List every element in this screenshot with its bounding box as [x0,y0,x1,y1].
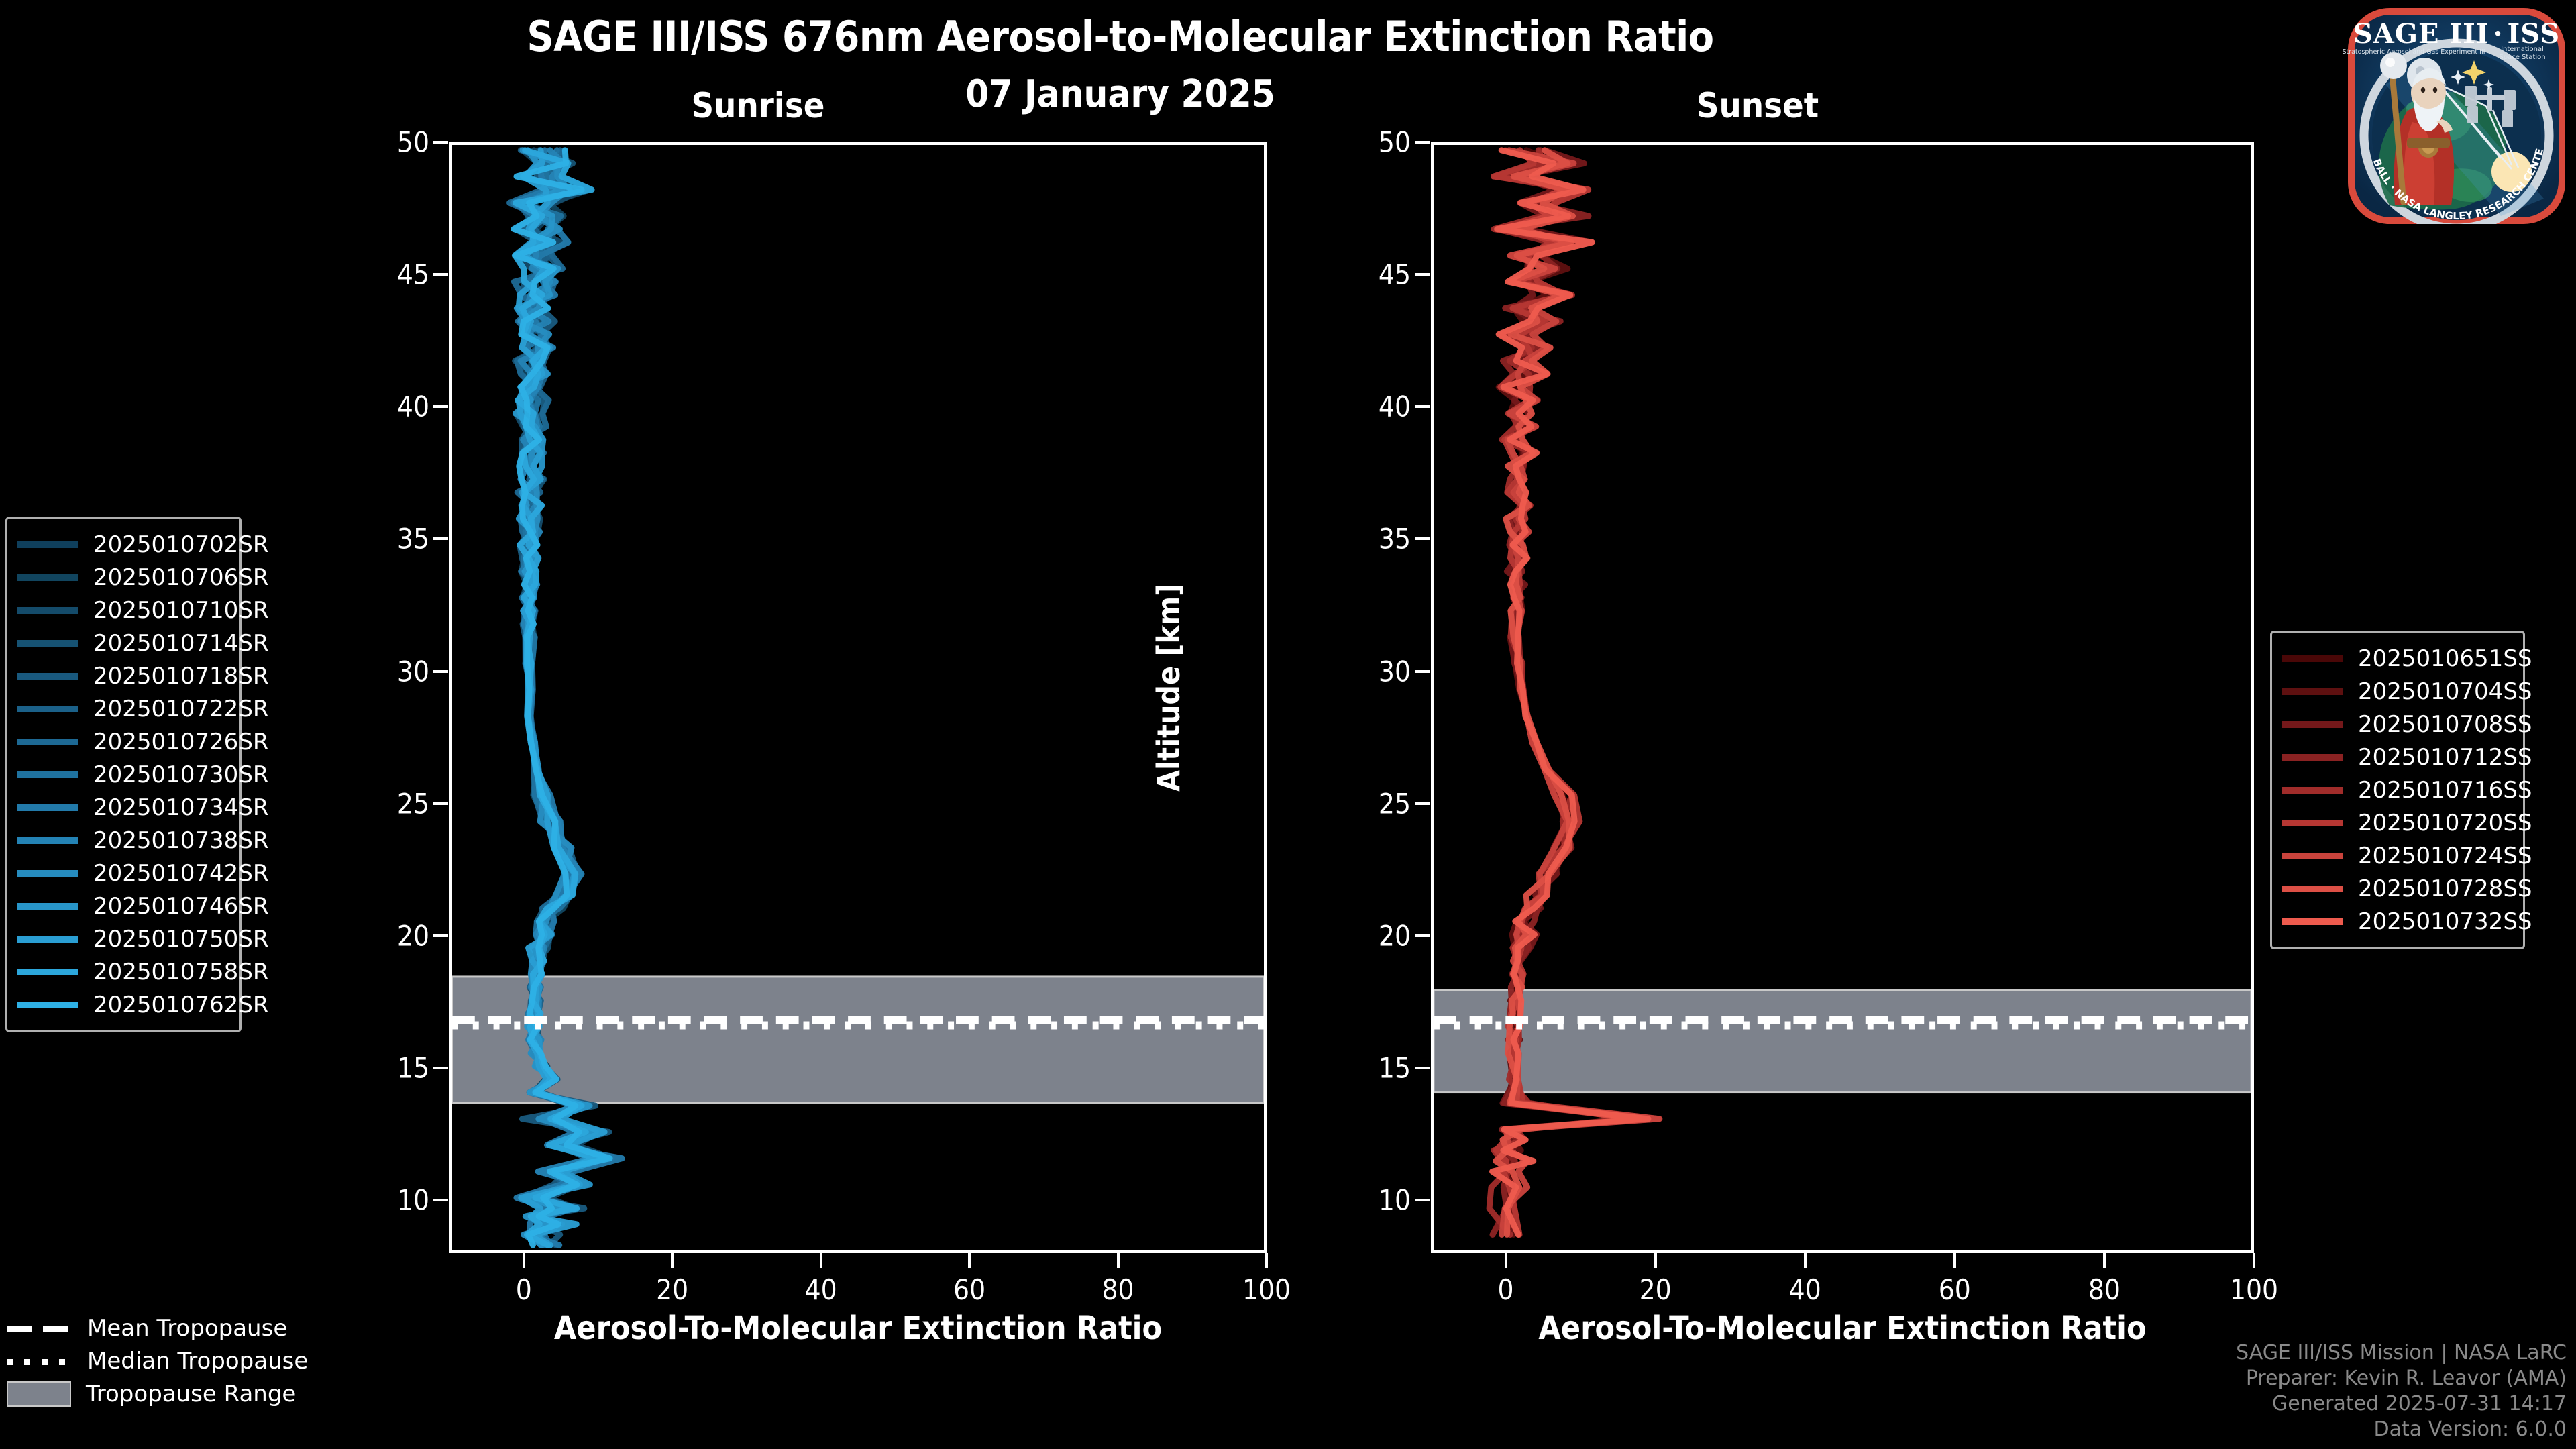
x-tick-mark [1265,1253,1268,1268]
x-tick-mark [1654,1253,1657,1268]
sunrise-x-axis-label: Aerosol-To-Molecular Extinction Ratio [449,1309,1267,1347]
tropopause-legend-item: Tropopause Range [7,1377,295,1410]
legend-color-swatch [17,870,78,877]
legend-color-swatch [2282,820,2343,826]
x-tick-label: 40 [1758,1273,1852,1306]
date-subtitle: 07 January 2025 [0,72,2241,116]
x-tick-label: 100 [2207,1273,2301,1306]
legend-item[interactable]: 2025010758SR [17,955,227,988]
tropopause-range-band [1434,990,2251,1093]
y-tick-mark [1415,537,1430,540]
tropopause-legend-item: Median Tropopause [7,1344,295,1377]
legend-item-label: 2025010724SS [2358,843,2532,869]
y-tick-label: 40 [349,390,429,423]
legend-item[interactable]: 2025010651SS [2282,642,2511,675]
x-tick-mark [2253,1253,2255,1268]
tropopause-range-swatch [7,1381,71,1407]
legend-item[interactable]: 2025010720SS [2282,806,2511,839]
sunset-y-axis-label: Altitude [km] [1150,584,1187,792]
legend-item-label: 2025010720SS [2358,810,2532,837]
tropopause-legend-label: Tropopause Range [86,1381,296,1407]
legend-item-label: 2025010738SR [93,827,269,854]
legend-item[interactable]: 2025010702SR [17,528,227,561]
tropopause-legend-label: Median Tropopause [87,1348,308,1375]
legend-item[interactable]: 2025010734SR [17,791,227,824]
legend-color-swatch [2282,885,2343,892]
y-tick-label: 50 [1330,126,1411,159]
y-tick-label: 45 [1330,258,1411,291]
sunrise-plot-area [449,142,1267,1253]
legend-color-swatch [17,771,78,778]
y-tick-mark [433,273,448,276]
legend-item[interactable]: 2025010708SS [2282,708,2511,741]
y-tick-label: 10 [1330,1184,1411,1217]
sunrise-legend[interactable]: 2025010702SR 2025010706SR 2025010710SR 2… [5,517,241,1032]
y-tick-mark [433,537,448,540]
legend-item-label: 2025010732SS [2358,908,2532,935]
y-tick-mark [433,934,448,937]
legend-item-label: 2025010712SS [2358,744,2532,771]
legend-color-swatch [2282,853,2343,859]
svg-text:SAGE III·ISS: SAGE III·ISS [2353,18,2560,50]
y-tick-mark [1415,405,1430,408]
x-tick-mark [820,1253,822,1268]
mission-patch-icon: SAGE III·ISS Stratospheric Aerosol and G… [2343,4,2571,225]
legend-item-label: 2025010714SR [93,630,269,657]
legend-color-swatch [17,673,78,680]
x-tick-mark [968,1253,971,1268]
legend-item[interactable]: 2025010742SR [17,857,227,890]
legend-item[interactable]: 2025010762SR [17,988,227,1021]
legend-item-label: 2025010742SR [93,860,269,887]
svg-text:International: International [2501,46,2544,53]
x-tick-mark [1804,1253,1807,1268]
legend-item-label: 2025010651SS [2358,645,2532,672]
legend-color-swatch [17,739,78,745]
y-tick-mark [433,1199,448,1201]
legend-item-label: 2025010702SR [93,531,269,558]
legend-item[interactable]: 2025010716SS [2282,773,2511,806]
y-tick-label: 20 [1330,919,1411,952]
y-tick-label: 35 [1330,523,1411,555]
credits-line: Preparer: Kevin R. Leavor (AMA) [2236,1366,2567,1391]
tropopause-legend-label: Mean Tropopause [87,1315,287,1342]
x-tick-label: 20 [625,1273,719,1306]
y-tick-mark [1415,273,1430,276]
y-tick-label: 25 [1330,787,1411,820]
x-tick-label: 0 [1459,1273,1553,1306]
legend-item-label: 2025010708SS [2358,711,2532,738]
legend-item[interactable]: 2025010704SS [2282,675,2511,708]
y-tick-mark [1415,670,1430,673]
legend-item[interactable]: 2025010724SS [2282,839,2511,872]
y-tick-label: 30 [1330,655,1411,688]
x-tick-label: 60 [922,1273,1016,1306]
y-tick-mark [433,670,448,673]
tropopause-legend: Mean Tropopause Median Tropopause Tropop… [7,1311,295,1410]
legend-item-label: 2025010734SR [93,794,269,821]
legend-item-label: 2025010718SR [93,663,269,690]
legend-color-swatch [2282,754,2343,761]
svg-text:Space Station: Space Station [2499,54,2545,61]
legend-item-label: 2025010750SR [93,926,269,953]
legend-item-label: 2025010746SR [93,893,269,920]
legend-color-swatch [17,936,78,943]
x-tick-label: 20 [1609,1273,1703,1306]
legend-color-swatch [17,1002,78,1008]
x-tick-label: 60 [1908,1273,2002,1306]
y-tick-mark [1415,1067,1430,1069]
legend-item-label: 2025010730SR [93,761,269,788]
y-tick-mark [433,141,448,144]
legend-item[interactable]: 2025010738SR [17,824,227,857]
legend-color-swatch [17,903,78,910]
svg-text:Stratospheric Aerosol and Gas: Stratospheric Aerosol and Gas Experiment… [2343,48,2485,56]
legend-item-label: 2025010706SR [93,564,269,591]
sunrise-panel-heading: Sunrise [671,86,845,126]
legend-color-swatch [2282,721,2343,728]
legend-item[interactable]: 2025010730SR [17,758,227,791]
legend-item-label: 2025010704SS [2358,678,2532,705]
legend-color-swatch [17,607,78,614]
legend-item[interactable]: 2025010728SS [2282,872,2511,905]
credits-block: SAGE III/ISS Mission | NASA LaRCPreparer… [2236,1340,2567,1442]
y-tick-mark [1415,1199,1430,1201]
legend-item-label: 2025010762SR [93,991,269,1018]
legend-item-label: 2025010722SR [93,696,269,722]
credits-line: SAGE III/ISS Mission | NASA LaRC [2236,1340,2567,1366]
tropopause-legend-item: Mean Tropopause [7,1311,295,1344]
sunset-x-axis-label: Aerosol-To-Molecular Extinction Ratio [1431,1309,2254,1347]
legend-color-swatch [2282,655,2343,662]
sage-iii-iss-logo: SAGE III·ISS Stratospheric Aerosol and G… [2343,4,2571,225]
x-tick-mark [1505,1253,1507,1268]
legend-item[interactable]: 2025010712SS [2282,741,2511,773]
y-tick-label: 15 [1330,1052,1411,1085]
x-tick-mark [523,1253,525,1268]
x-tick-mark [2103,1253,2106,1268]
median-tropopause-swatch [7,1352,72,1370]
sunset-legend[interactable]: 2025010651SS 2025010704SS 2025010708SS 2… [2270,631,2525,949]
y-tick-mark [433,1067,448,1069]
legend-color-swatch [17,706,78,712]
sunset-panel-heading: Sunset [1670,86,1845,126]
x-tick-label: 100 [1220,1273,1313,1306]
legend-color-swatch [17,541,78,548]
y-tick-label: 10 [349,1184,429,1217]
legend-color-swatch [17,574,78,581]
sunset-plot-svg [1434,145,2251,1250]
legend-color-swatch [2282,787,2343,794]
y-tick-label: 15 [349,1052,429,1085]
y-tick-mark [1415,934,1430,937]
legend-color-swatch [2282,688,2343,695]
tropopause-range-band [452,977,1264,1103]
x-tick-label: 80 [1071,1273,1165,1306]
x-tick-mark [1117,1253,1120,1268]
legend-item-label: 2025010728SS [2358,875,2532,902]
legend-item-label: 2025010726SR [93,729,269,755]
legend-color-swatch [17,969,78,975]
y-tick-label: 25 [349,787,429,820]
x-tick-label: 80 [2057,1273,2151,1306]
legend-item-label: 2025010710SR [93,597,269,624]
y-tick-label: 50 [349,126,429,159]
legend-item[interactable]: 2025010710SR [17,594,227,627]
legend-item[interactable]: 2025010750SR [17,922,227,955]
legend-item[interactable]: 2025010718SR [17,659,227,692]
y-tick-label: 30 [349,655,429,688]
y-tick-mark [433,405,448,408]
y-tick-label: 35 [349,523,429,555]
y-tick-label: 20 [349,919,429,952]
sunset-plot-area [1431,142,2254,1253]
x-tick-label: 0 [477,1273,571,1306]
legend-color-swatch [17,804,78,811]
legend-item-label: 2025010758SR [93,959,269,985]
y-tick-mark [433,802,448,805]
legend-item[interactable]: 2025010722SR [17,692,227,725]
x-tick-mark [1953,1253,1956,1268]
credits-line: Generated 2025-07-31 14:17 [2236,1391,2567,1417]
y-tick-label: 45 [349,258,429,291]
legend-color-swatch [2282,918,2343,925]
legend-item[interactable]: 2025010714SR [17,627,227,659]
legend-color-swatch [17,640,78,647]
y-tick-mark [1415,141,1430,144]
credits-line: Data Version: 6.0.0 [2236,1417,2567,1442]
legend-item[interactable]: 2025010706SR [17,561,227,594]
x-tick-label: 40 [774,1273,868,1306]
mean-tropopause-swatch [7,1320,72,1337]
page-title: SAGE III/ISS 676nm Aerosol-to-Molecular … [0,12,2241,61]
legend-item[interactable]: 2025010726SR [17,725,227,758]
y-tick-label: 40 [1330,390,1411,423]
sunrise-plot-svg [452,145,1264,1250]
y-tick-mark [1415,802,1430,805]
legend-item[interactable]: 2025010732SS [2282,905,2511,938]
x-tick-mark [671,1253,674,1268]
legend-item-label: 2025010716SS [2358,777,2532,804]
legend-color-swatch [17,837,78,844]
legend-item[interactable]: 2025010746SR [17,890,227,922]
